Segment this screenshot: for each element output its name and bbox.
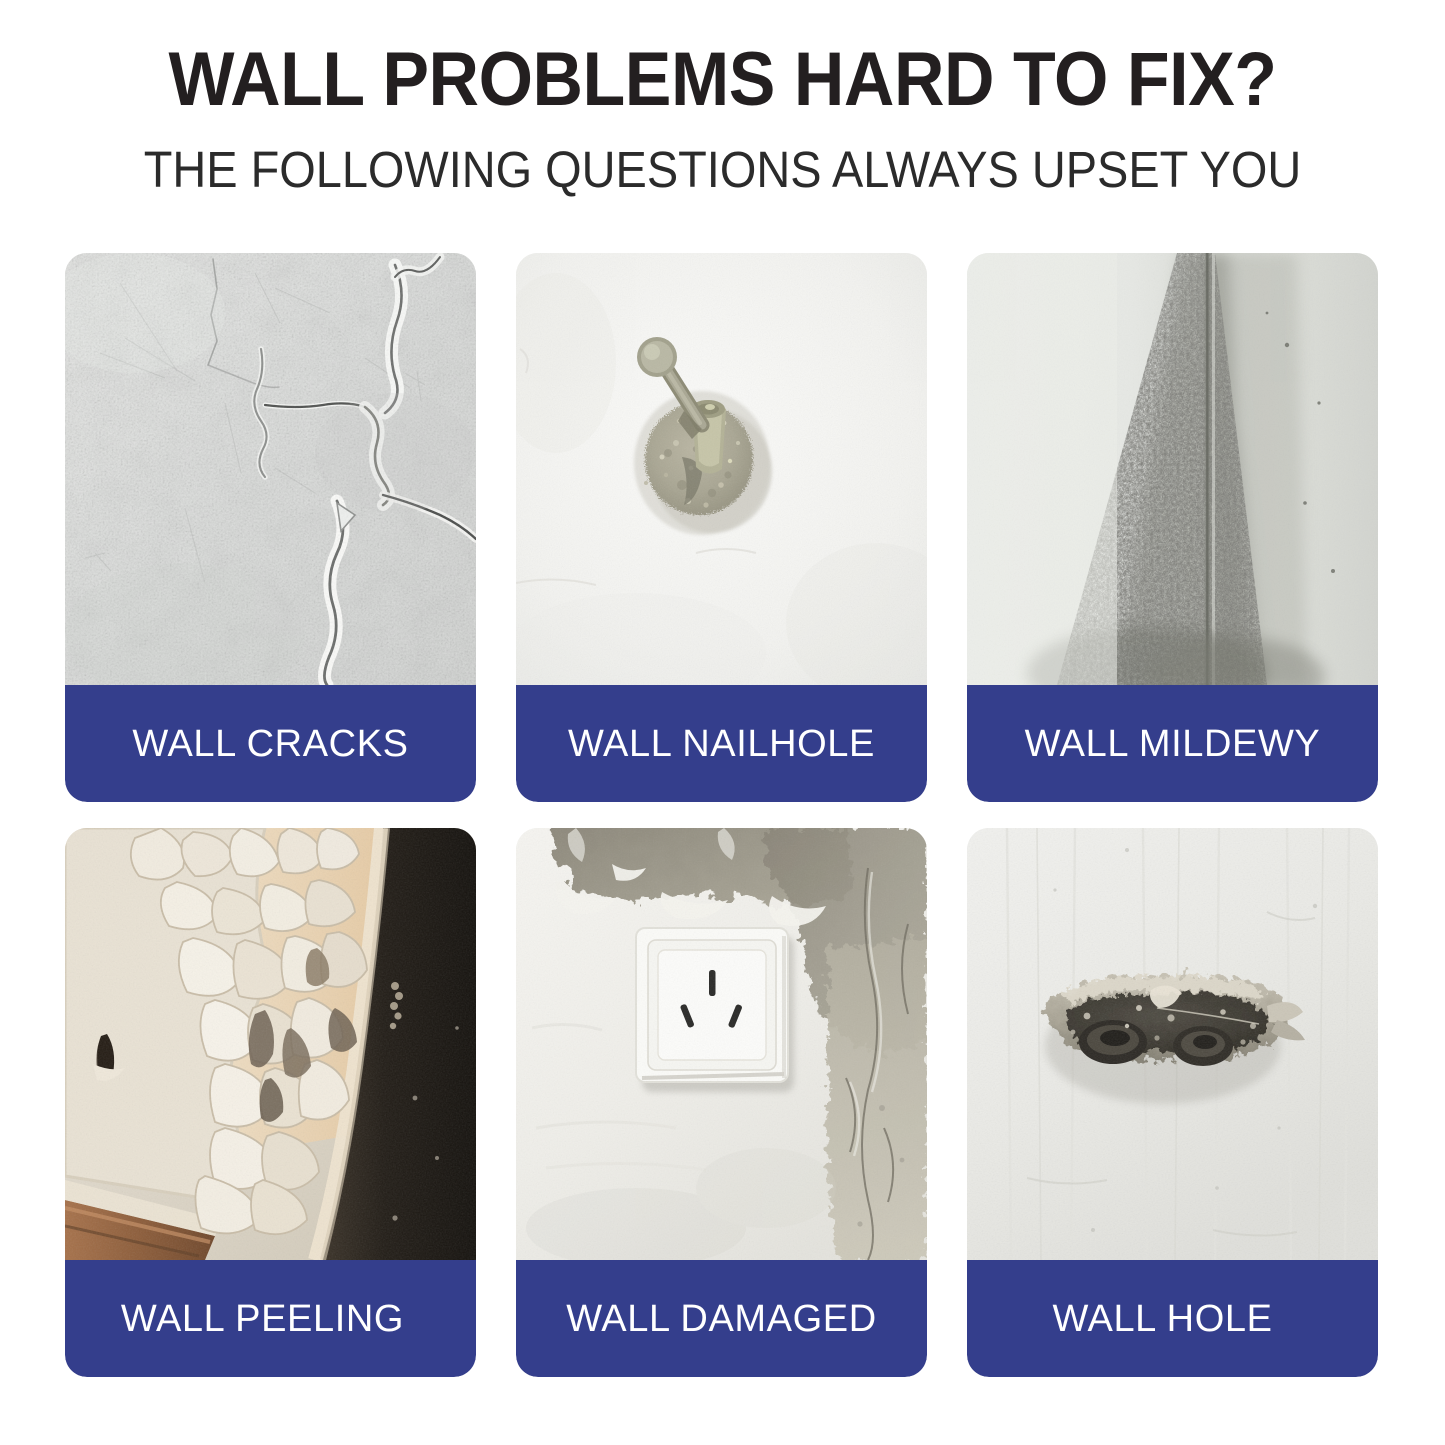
problem-card[interactable]: WALL NAILHOLE [516,253,927,802]
header-block: WALL PROBLEMS HARD TO FIX? THE FOLLOWING… [0,0,1445,195]
card-label: WALL MILDEWY [1025,725,1321,763]
card-label: WALL HOLE [1052,1300,1272,1338]
card-label: WALL DAMAGED [566,1300,877,1338]
wall-hole-photo [967,828,1378,1260]
wall-nailhole-photo [516,253,927,685]
wall-peeling-photo [65,828,476,1260]
problem-card-grid: WALL CRACKS [65,253,1379,1378]
card-label: WALL CRACKS [132,725,408,763]
problem-card[interactable]: WALL PEELING [65,828,476,1377]
card-label-bar: WALL MILDEWY [967,685,1378,802]
page-title: WALL PROBLEMS HARD TO FIX? [58,42,1387,118]
problem-card[interactable]: WALL HOLE [967,828,1378,1377]
card-label-bar: WALL CRACKS [65,685,476,802]
wall-damaged-photo [516,828,927,1260]
promo-graphic: WALL PROBLEMS HARD TO FIX? THE FOLLOWING… [0,0,1445,1445]
card-label-bar: WALL PEELING [65,1260,476,1377]
card-label: WALL PEELING [121,1300,404,1338]
problem-card[interactable]: WALL MILDEWY [967,253,1378,802]
page-subtitle: THE FOLLOWING QUESTIONS ALWAYS UPSET YOU [58,144,1387,195]
problem-card[interactable]: WALL DAMAGED [516,828,927,1377]
card-label-bar: WALL HOLE [967,1260,1378,1377]
card-label: WALL NAILHOLE [568,725,875,763]
problem-card[interactable]: WALL CRACKS [65,253,476,802]
wall-mildewy-photo [967,253,1378,685]
card-label-bar: WALL DAMAGED [516,1260,927,1377]
card-label-bar: WALL NAILHOLE [516,685,927,802]
wall-cracks-photo [65,253,476,685]
